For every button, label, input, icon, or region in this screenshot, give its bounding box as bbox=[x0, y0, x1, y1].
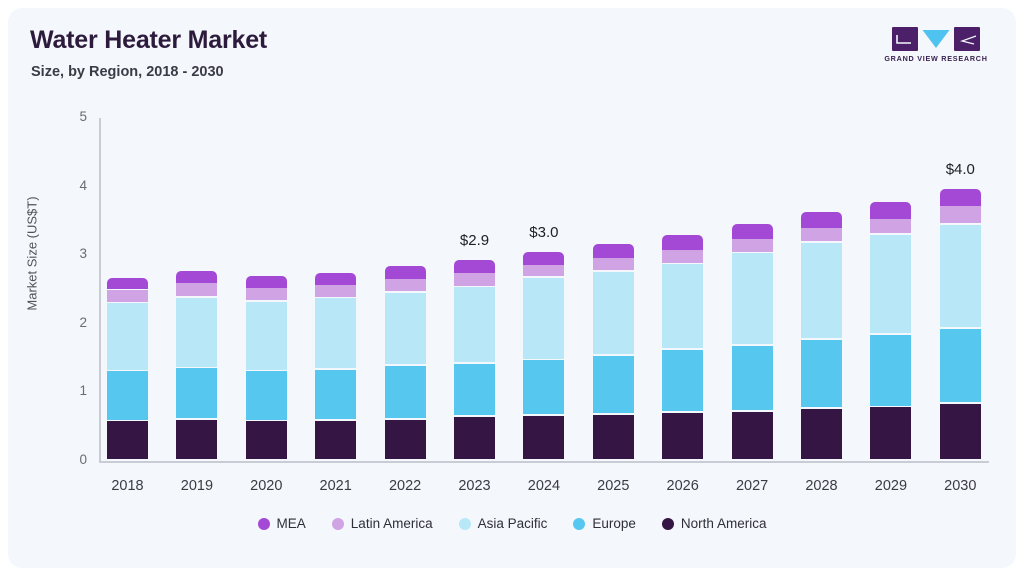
bar-value-label: $2.9 bbox=[435, 232, 515, 249]
bar-segment[interactable] bbox=[107, 371, 148, 419]
x-axis-tick-label: 2028 bbox=[787, 478, 857, 494]
y-axis-tick-label: 5 bbox=[61, 109, 87, 124]
y-axis-tick-label: 1 bbox=[61, 383, 87, 398]
bar-segment[interactable] bbox=[315, 273, 356, 285]
x-axis-tick-label: 2026 bbox=[648, 478, 718, 494]
bar-segment[interactable] bbox=[246, 371, 287, 419]
x-axis-tick-label: 2025 bbox=[578, 478, 648, 494]
bar-segment[interactable] bbox=[315, 285, 356, 297]
bar-segment[interactable] bbox=[315, 370, 356, 419]
bar-segment[interactable] bbox=[246, 421, 287, 459]
bar-segment[interactable] bbox=[454, 364, 495, 416]
x-axis-tick-label: 2023 bbox=[440, 478, 510, 494]
legend-swatch-icon bbox=[258, 518, 270, 530]
x-axis-tick-label: 2022 bbox=[370, 478, 440, 494]
bar-segment[interactable] bbox=[732, 224, 773, 239]
bar-segment[interactable] bbox=[593, 272, 634, 355]
bar-segment[interactable] bbox=[107, 421, 148, 459]
bar-segment[interactable] bbox=[662, 413, 703, 459]
legend-swatch-icon bbox=[573, 518, 585, 530]
legend-swatch-icon bbox=[662, 518, 674, 530]
bar-value-label: $4.0 bbox=[920, 161, 1000, 178]
x-axis-tick-label: 2018 bbox=[93, 478, 163, 494]
y-axis-tick-label: 0 bbox=[61, 452, 87, 467]
y-axis-tick-label: 4 bbox=[61, 178, 87, 193]
bar-segment[interactable] bbox=[801, 212, 842, 228]
y-axis-tick-label: 2 bbox=[61, 315, 87, 330]
x-axis-tick-label: 2020 bbox=[231, 478, 301, 494]
bar-segment[interactable] bbox=[523, 360, 564, 414]
chart-card: Water Heater Market Size, by Region, 201… bbox=[8, 8, 1016, 568]
bar-segment[interactable] bbox=[246, 302, 287, 370]
bar-segment[interactable] bbox=[176, 271, 217, 283]
bar-segment[interactable] bbox=[870, 335, 911, 406]
bar-segment[interactable] bbox=[107, 278, 148, 290]
bar-segment[interactable] bbox=[662, 350, 703, 412]
legend-item[interactable]: Asia Pacific bbox=[459, 516, 548, 531]
bar-segment[interactable] bbox=[315, 298, 356, 368]
legend-item-label: North America bbox=[681, 516, 767, 531]
bar-segment[interactable] bbox=[940, 189, 981, 205]
bar-segment[interactable] bbox=[801, 228, 842, 241]
chart-plot-area: Market Size (US$T) 012345201820192020202… bbox=[8, 8, 1016, 568]
legend-item-label: MEA bbox=[277, 516, 306, 531]
bar-segment[interactable] bbox=[940, 329, 981, 403]
bar-segment[interactable] bbox=[732, 253, 773, 344]
bar-segment[interactable] bbox=[385, 293, 426, 364]
bar-segment[interactable] bbox=[662, 250, 703, 263]
x-axis-tick-label: 2021 bbox=[301, 478, 371, 494]
y-axis-line bbox=[99, 118, 101, 461]
y-axis-tick-label: 3 bbox=[61, 246, 87, 261]
bar-segment[interactable] bbox=[870, 235, 911, 334]
legend-item-label: Europe bbox=[592, 516, 636, 531]
bar-segment[interactable] bbox=[246, 276, 287, 288]
bar-segment[interactable] bbox=[107, 303, 148, 369]
bar-segment[interactable] bbox=[246, 288, 287, 300]
legend-item[interactable]: Europe bbox=[573, 516, 636, 531]
legend-item[interactable]: MEA bbox=[258, 516, 306, 531]
bar-segment[interactable] bbox=[940, 404, 981, 459]
bar-segment[interactable] bbox=[176, 368, 217, 418]
bar-segment[interactable] bbox=[176, 283, 217, 296]
bar-segment[interactable] bbox=[523, 278, 564, 359]
x-axis-tick-label: 2029 bbox=[856, 478, 926, 494]
bar-segment[interactable] bbox=[593, 258, 634, 270]
bar-segment[interactable] bbox=[454, 273, 495, 286]
bar-segment[interactable] bbox=[662, 235, 703, 249]
bar-segment[interactable] bbox=[870, 407, 911, 459]
bar-segment[interactable] bbox=[523, 252, 564, 265]
x-axis-line bbox=[99, 461, 989, 463]
bar-segment[interactable] bbox=[940, 206, 981, 224]
bar-segment[interactable] bbox=[454, 287, 495, 362]
bar-segment[interactable] bbox=[870, 219, 911, 233]
legend-swatch-icon bbox=[459, 518, 471, 530]
bar-segment[interactable] bbox=[940, 225, 981, 327]
bar-segment[interactable] bbox=[801, 409, 842, 460]
bar-segment[interactable] bbox=[732, 239, 773, 252]
bar-segment[interactable] bbox=[454, 417, 495, 459]
bar-segment[interactable] bbox=[176, 420, 217, 460]
bar-segment[interactable] bbox=[454, 260, 495, 273]
bar-segment[interactable] bbox=[315, 421, 356, 460]
x-axis-tick-label: 2030 bbox=[925, 478, 995, 494]
legend-item-label: Asia Pacific bbox=[478, 516, 548, 531]
legend-item-label: Latin America bbox=[351, 516, 433, 531]
bar-segment[interactable] bbox=[385, 279, 426, 292]
legend-item[interactable]: North America bbox=[662, 516, 767, 531]
bar-segment[interactable] bbox=[732, 412, 773, 460]
legend-swatch-icon bbox=[332, 518, 344, 530]
x-axis-tick-label: 2027 bbox=[717, 478, 787, 494]
chart-legend: MEALatin AmericaAsia PacificEuropeNorth … bbox=[8, 516, 1016, 531]
legend-item[interactable]: Latin America bbox=[332, 516, 433, 531]
x-axis-tick-label: 2024 bbox=[509, 478, 579, 494]
bar-segment[interactable] bbox=[176, 298, 217, 367]
bar-segment[interactable] bbox=[593, 244, 634, 258]
bar-segment[interactable] bbox=[732, 346, 773, 410]
bar-segment[interactable] bbox=[385, 366, 426, 419]
bar-segment[interactable] bbox=[801, 340, 842, 408]
bar-segment[interactable] bbox=[523, 416, 564, 460]
bar-segment[interactable] bbox=[523, 265, 564, 276]
bar-segment[interactable] bbox=[801, 243, 842, 338]
bar-segment[interactable] bbox=[385, 266, 426, 278]
bar-segment[interactable] bbox=[593, 415, 634, 459]
bar-segment[interactable] bbox=[385, 420, 426, 460]
y-axis-label: Market Size (US$T) bbox=[25, 164, 40, 344]
x-axis-tick-label: 2019 bbox=[162, 478, 232, 494]
bar-segment[interactable] bbox=[593, 356, 634, 413]
bar-segment[interactable] bbox=[107, 290, 148, 302]
bar-segment[interactable] bbox=[870, 202, 911, 218]
bar-segment[interactable] bbox=[662, 264, 703, 348]
bar-value-label: $3.0 bbox=[504, 224, 584, 241]
